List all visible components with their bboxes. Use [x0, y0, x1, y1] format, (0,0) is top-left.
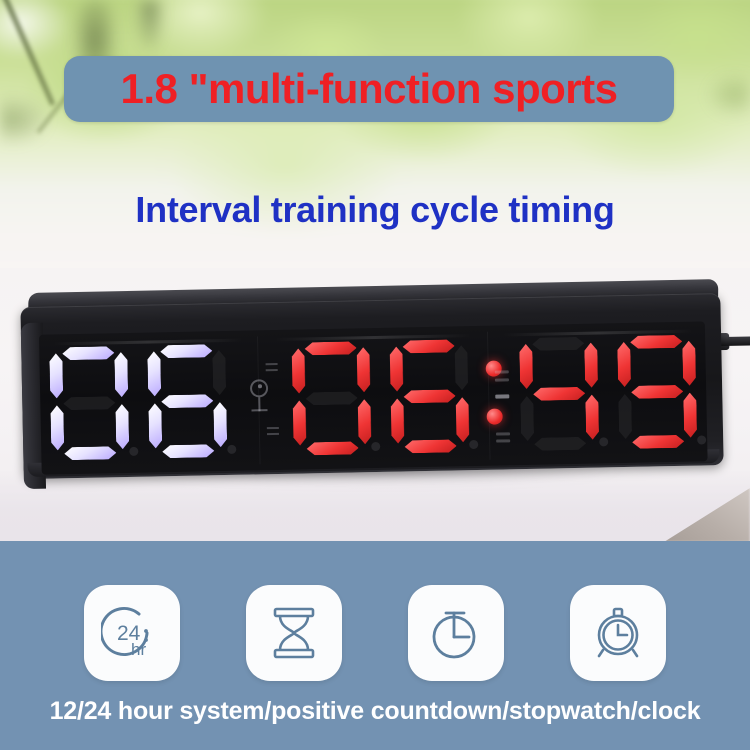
digit-red-4 — [612, 332, 702, 452]
feature-caption: 12/24 hour system/positive countdown/sto… — [0, 699, 750, 724]
red-hours-group — [282, 337, 480, 459]
digit-red-2 — [385, 337, 475, 457]
led-timer-device — [20, 279, 730, 489]
feature-card-hourglass[interactable] — [246, 585, 342, 681]
colon-separator — [477, 336, 511, 455]
blue-digit-group — [39, 342, 237, 464]
decimal-point — [599, 437, 608, 446]
alarm-clock-icon — [589, 604, 647, 662]
digit-blue-1 — [44, 344, 134, 464]
red-minutes-group — [509, 332, 707, 454]
twentyfour-hour-icon: 24 hr — [101, 602, 163, 664]
decimal-point — [129, 447, 138, 456]
sensor-indicator-icon — [235, 341, 284, 460]
feature-card-alarm-clock[interactable] — [570, 585, 666, 681]
led-screen — [39, 321, 708, 474]
digit-blue-2 — [142, 342, 232, 462]
headline-text: 1.8 "multi-function sports — [121, 68, 618, 110]
feature-icon-row: 24 hr — [0, 585, 750, 681]
decimal-point — [470, 440, 479, 449]
svg-text:hr: hr — [131, 640, 146, 659]
feature-card-24hr[interactable]: 24 hr — [84, 585, 180, 681]
decimal-point — [697, 435, 706, 444]
stopwatch-icon — [427, 604, 485, 662]
device-body — [20, 293, 723, 479]
decimal-point — [227, 445, 236, 454]
headline-banner: 1.8 "multi-function sports — [64, 56, 674, 122]
product-promo-image: 1.8 "multi-function sports Interval trai… — [0, 0, 750, 750]
decimal-point — [372, 442, 381, 451]
digit-red-1 — [287, 339, 377, 459]
subtitle-text: Interval training cycle timing — [0, 192, 750, 228]
feature-card-stopwatch[interactable] — [408, 585, 504, 681]
digit-red-3 — [514, 334, 604, 454]
feature-band: 24 hr — [0, 541, 750, 750]
hourglass-icon — [265, 604, 323, 662]
